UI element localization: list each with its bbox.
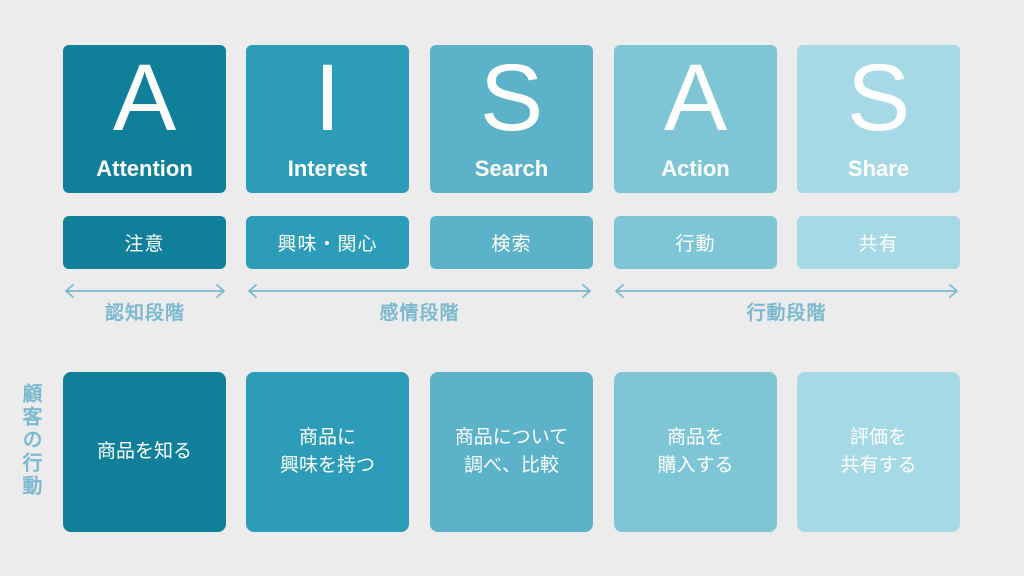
- sub-label-share: 共有: [797, 216, 960, 269]
- letter-english-label: Action: [661, 158, 729, 180]
- vertical-axis-label: 顧客の行動: [14, 383, 46, 533]
- letter-card-interest: I Interest: [246, 45, 409, 193]
- letter-english-label: Share: [848, 158, 909, 180]
- behavior-card-share: 評価を 共有する: [797, 372, 960, 532]
- letter-glyph: A: [113, 51, 176, 146]
- letter-english-label: Attention: [96, 158, 193, 180]
- sub-label-interest: 興味・関心: [246, 216, 409, 269]
- stage-group-behavioral: 行動段階: [610, 282, 963, 330]
- letter-glyph: A: [664, 51, 727, 146]
- letter-card-search: S Search: [430, 45, 593, 193]
- sub-label-attention: 注意: [63, 216, 226, 269]
- stage-label-cognitive: 認知段階: [60, 298, 230, 325]
- letter-card-attention: A Attention: [63, 45, 226, 193]
- letter-glyph: I: [314, 51, 340, 146]
- sub-label-action: 行動: [614, 216, 777, 269]
- letter-english-label: Search: [475, 158, 548, 180]
- behavior-card-attention: 商品を知る: [63, 372, 226, 532]
- behavior-card-action: 商品を 購入する: [614, 372, 777, 532]
- behavior-card-interest: 商品に 興味を持つ: [246, 372, 409, 532]
- letter-english-label: Interest: [288, 158, 367, 180]
- letter-glyph: S: [847, 51, 910, 146]
- stage-group-emotional: 感情段階: [243, 282, 596, 330]
- letter-glyph: S: [480, 51, 543, 146]
- behavior-card-search: 商品について 調べ、比較: [430, 372, 593, 532]
- letter-card-action: A Action: [614, 45, 777, 193]
- sub-label-search: 検索: [430, 216, 593, 269]
- stage-label-behavioral: 行動段階: [610, 298, 963, 325]
- stage-group-cognitive: 認知段階: [60, 282, 230, 330]
- stage-label-emotional: 感情段階: [243, 298, 596, 325]
- letter-card-share: S Share: [797, 45, 960, 193]
- aisas-infographic: A Attention I Interest S Search A Action…: [0, 0, 1024, 576]
